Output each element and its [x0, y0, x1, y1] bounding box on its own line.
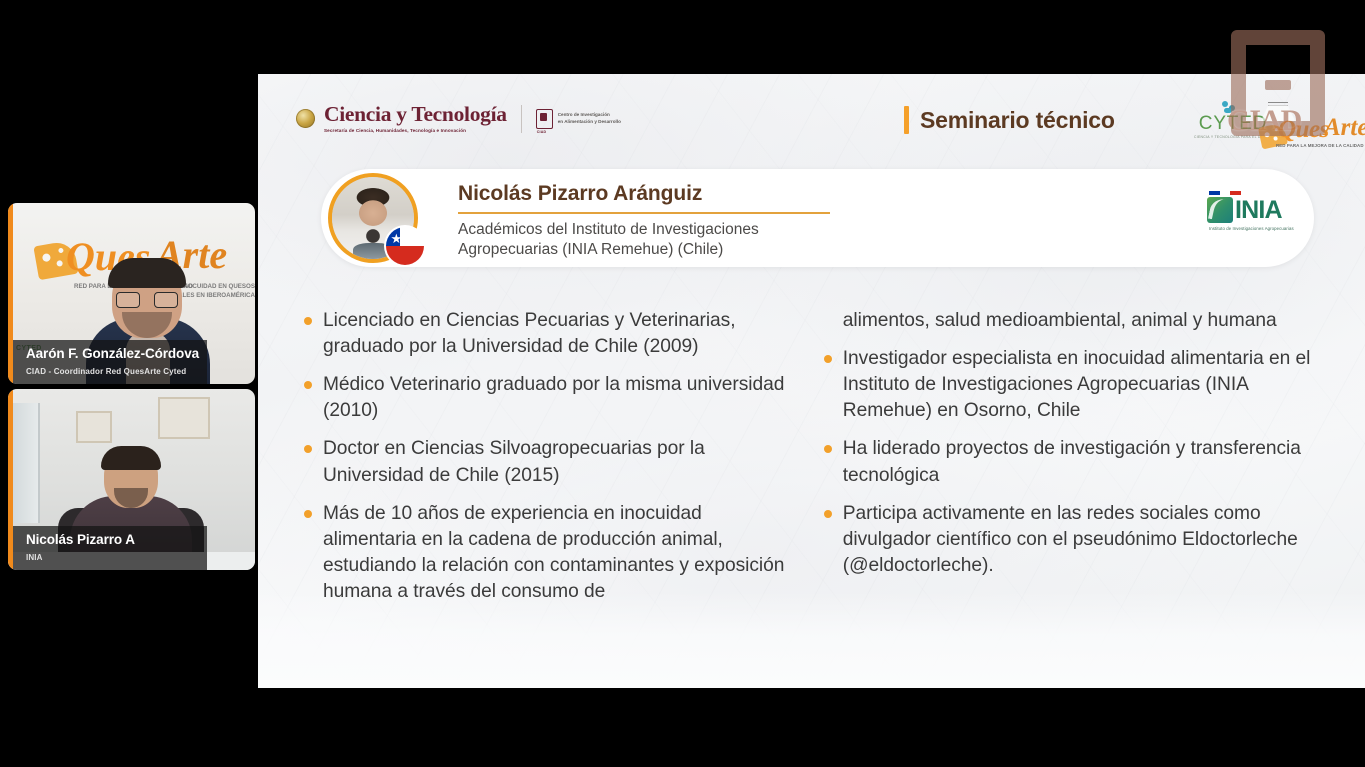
- shared-slide: Ciencia y Tecnología Secretaría de Cienc…: [258, 74, 1365, 688]
- bullet-dot-icon: [824, 510, 832, 518]
- inia-logo-subtitle: Instituto de Investigaciones Agropecuari…: [1209, 226, 1313, 231]
- bullet-text: Licenciado en Ciencias Pecuarias y Veter…: [323, 310, 736, 357]
- bullet-text: Investigador especialista en inocuidad a…: [843, 348, 1311, 421]
- slide-body: Licenciado en Ciencias Pecuarias y Veter…: [302, 308, 1335, 617]
- participant-tile-nicolas[interactable]: Nicolás Pizarro A INIA: [8, 389, 255, 570]
- ciad-logo: CIAD Centro de Investigación en Alimenta…: [536, 109, 621, 129]
- bullet-dot-icon: [304, 445, 312, 453]
- gov-logo-title: Ciencia y Tecnología: [324, 104, 507, 126]
- list-item-continuation: alimentos, salud medioambiental, animal …: [822, 308, 1335, 334]
- quesarte-logo: Ques Arte RED PARA LA MEJORA DE LA CALID…: [1258, 112, 1365, 160]
- mexico-eagle-seal-icon: [296, 109, 315, 128]
- inia-logo: INIA Instituto de Investigaciones Agrope…: [1207, 191, 1313, 231]
- bullet-text: Más de 10 años de experiencia en inocuid…: [323, 503, 784, 602]
- participant-role: INIA: [26, 553, 197, 562]
- bullet-text: Médico Veterinario graduado por la misma…: [323, 374, 784, 421]
- list-item: Doctor en Ciencias Silvoagropecuarias po…: [302, 436, 798, 488]
- bullet-text: Doctor en Ciencias Silvoagropecuarias po…: [323, 438, 705, 485]
- speaker-info: Nicolás Pizarro Aránguiz Académicos del …: [458, 182, 858, 261]
- bullet-dot-icon: [824, 355, 832, 363]
- bullet-list-right: alimentos, salud medioambiental, animal …: [822, 308, 1335, 579]
- speaker-role-line2: Agropecuarias (INIA Remehue) (Chile): [458, 240, 850, 261]
- bullet-text: Participa activamente en las redes socia…: [843, 503, 1298, 576]
- speaker-name: Nicolás Pizarro Aránguiz: [458, 182, 858, 206]
- participant-role: CIAD - Coordinador Red QuesArte Cyted: [26, 367, 197, 376]
- list-item: Ha liderado proyectos de investigación y…: [822, 436, 1335, 488]
- quesarte-word1: Ques: [1278, 116, 1329, 144]
- list-item: Investigador especialista en inocuidad a…: [822, 346, 1335, 424]
- participant-name-plate: Nicolás Pizarro A INIA: [13, 526, 207, 570]
- ciad-abbr: CIAD: [537, 130, 547, 134]
- ciad-building-icon: CIAD: [536, 109, 553, 129]
- list-item: Participa activamente en las redes socia…: [822, 501, 1335, 579]
- speaker-divider: [458, 212, 830, 214]
- bullet-text: alimentos, salud medioambiental, animal …: [843, 310, 1277, 331]
- inia-leaf-icon: [1207, 197, 1233, 223]
- bullet-dot-icon: [304, 317, 312, 325]
- bullet-dot-icon: [824, 445, 832, 453]
- bullet-list-left: Licenciado en Ciencias Pecuarias y Veter…: [302, 308, 798, 605]
- gov-logo-text: Ciencia y Tecnología Secretaría de Cienc…: [324, 104, 507, 133]
- list-item: Médico Veterinario graduado por la misma…: [302, 372, 798, 424]
- background-picture-frame: [76, 411, 112, 443]
- quesarte-word2: Arte: [1324, 114, 1365, 142]
- gov-logo-group: Ciencia y Tecnología Secretaría de Cienc…: [296, 104, 621, 133]
- glasses-icon: [116, 292, 178, 308]
- slide-title-group: Seminario técnico: [904, 106, 1115, 134]
- speaker-avatar: ★: [328, 173, 418, 263]
- inia-flag-stripe-icon: [1209, 191, 1241, 195]
- meeting-stage: Ciencia y Tecnología Secretaría de Cienc…: [0, 0, 1365, 767]
- gov-logo-subtitle: Secretaría de Ciencia, Humanidades, Tecn…: [324, 129, 507, 134]
- bullet-dot-icon: [304, 510, 312, 518]
- slide-header: Ciencia y Tecnología Secretaría de Cienc…: [296, 98, 1329, 156]
- bullet-text: Ha liderado proyectos de investigación y…: [843, 438, 1301, 485]
- participant-name: Nicolás Pizarro A: [26, 533, 197, 548]
- bullet-column-right: alimentos, salud medioambiental, animal …: [822, 308, 1335, 617]
- participant-name-plate: Aarón F. González-Córdova CIAD - Coordin…: [13, 340, 207, 384]
- inia-logo-word: INIA: [1235, 198, 1282, 223]
- speaker-card: ★ Nicolás Pizarro Aránguiz Académicos de…: [321, 169, 1314, 267]
- list-item: Licenciado en Ciencias Pecuarias y Veter…: [302, 308, 798, 360]
- title-accent-bar: [904, 106, 909, 134]
- bullet-column-left: Licenciado en Ciencias Pecuarias y Veter…: [302, 308, 798, 617]
- participant-name: Aarón F. González-Córdova: [26, 347, 197, 362]
- list-item: Más de 10 años de experiencia en inocuid…: [302, 501, 798, 605]
- ciad-logo-line2: en Alimentación y Desarrollo: [558, 119, 621, 126]
- ciad-logo-text: Centro de Investigación en Alimentación …: [558, 112, 621, 125]
- bullet-dot-icon: [304, 381, 312, 389]
- background-picture-frame: [158, 397, 210, 439]
- ciad-logo-line1: Centro de Investigación: [558, 112, 621, 119]
- participant-tile-aaron[interactable]: Ques Arte RED PARA LA MEJORA DE LA CALID…: [8, 203, 255, 384]
- slide-title: Seminario técnico: [920, 107, 1115, 134]
- quesarte-tagline: RED PARA LA MEJORA DE LA CALIDAD: [1276, 143, 1365, 150]
- speaker-role-line1: Académicos del Instituto de Investigacio…: [458, 220, 850, 241]
- header-divider: [521, 105, 522, 133]
- chile-flag-icon: ★: [386, 227, 424, 265]
